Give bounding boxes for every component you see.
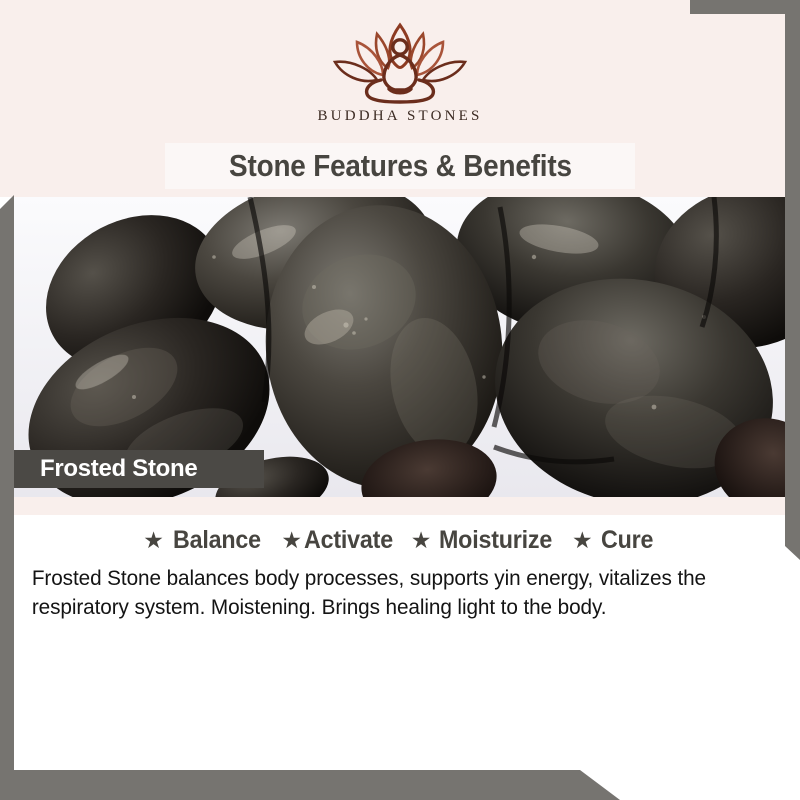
benefits-row: ★ Balance ★ Activate ★ Moisturize ★ Cure (0, 515, 800, 555)
star-icon: ★ (143, 529, 164, 552)
brand-logo-block: BUDDHA STONES (0, 18, 800, 125)
benefit-label: Cure (601, 526, 653, 555)
brand-name: BUDDHA STONES (0, 108, 800, 125)
photo-caption-bar: Frosted Stone (14, 450, 264, 488)
cream-divider-strip (0, 497, 800, 515)
benefit-item-cure: ★ Cure (572, 526, 657, 555)
corner-frame-top-right (690, 0, 800, 14)
corner-frame-left-edge (0, 195, 14, 800)
benefit-item-activate: ★ Activate (281, 526, 399, 555)
benefit-label: Moisturize (439, 526, 552, 555)
benefit-item-balance: ★ Balance (143, 526, 267, 555)
title-banner: Stone Features & Benefits (165, 143, 635, 189)
body-section: ★ Balance ★ Activate ★ Moisturize ★ Cure… (0, 515, 800, 800)
header-section: BUDDHA STONES Stone Features & Benefits (0, 0, 800, 197)
benefit-label: Activate (304, 526, 393, 555)
star-icon: ★ (572, 529, 593, 552)
benefit-label: Balance (173, 526, 261, 555)
lotus-meditation-figure-icon (315, 18, 485, 106)
corner-frame-bottom-edge (0, 770, 620, 800)
description-text: Frosted Stone balances body processes, s… (0, 564, 772, 622)
page-title: Stone Features & Benefits (229, 148, 572, 184)
photo-caption-text: Frosted Stone (14, 455, 197, 483)
star-icon: ★ (281, 529, 302, 552)
benefit-item-moisturize: ★ Moisturize (411, 526, 561, 555)
corner-frame-right-edge (785, 0, 800, 560)
product-info-card: BUDDHA STONES Stone Features & Benefits (0, 0, 800, 800)
star-icon: ★ (411, 529, 432, 552)
